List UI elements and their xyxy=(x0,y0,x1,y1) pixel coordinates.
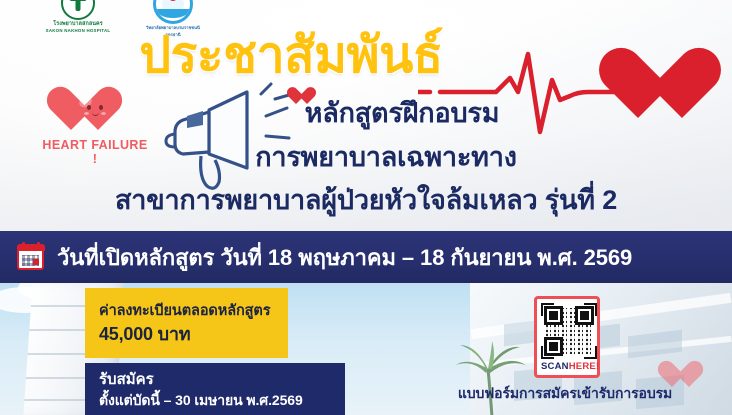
royal-crest-icon xyxy=(153,0,193,24)
here-word: HERE! xyxy=(569,361,600,372)
application-period: ตั้งแต่บัดนี้ – 30 เมษายน พ.ศ.2569 xyxy=(99,390,345,410)
page-title: ประชาสัมพันธ์ xyxy=(0,28,732,82)
qr-caption: แบบฟอร์มการสมัครเข้ารับการอบรม xyxy=(430,383,700,405)
course-date-bar: วันที่เปิดหลักสูตร วันที่ 18 พฤษภาคม – 1… xyxy=(0,231,732,283)
application-period-box: รับสมัคร ตั้งแต่บัดนี้ – 30 เมษายน พ.ศ.2… xyxy=(85,363,345,415)
scan-here-label: SCANHERE! xyxy=(541,361,593,372)
subtitle-line-3: สาขาการพยาบาลผู้ป่วยหัวใจล้มเหลว รุ่นที่… xyxy=(0,184,732,216)
logo-moph-thai-name: โรงพยาบาลสกลนคร xyxy=(32,21,124,28)
poster-canvas: โรงพยาบาลสกลนคร SAKON NAKHON HOSPITAL วิ… xyxy=(0,0,732,415)
scan-word: SCAN xyxy=(541,361,569,372)
subtitle-line-2: การพยาบาลเฉพาะทาง xyxy=(0,141,732,173)
application-label: รับสมัคร xyxy=(99,370,345,390)
qr-code-block[interactable]: SCANHERE! xyxy=(534,296,600,378)
heart-icon xyxy=(672,362,702,392)
qr-code-icon[interactable] xyxy=(541,303,597,359)
subtitle-line-1: หลักสูตรฝึกอบรม xyxy=(0,97,732,129)
course-date-text: วันที่เปิดหลักสูตร วันที่ 18 พฤษภาคม – 1… xyxy=(57,240,632,275)
fee-box: ค่าลงทะเบียนตลอดหลักสูตร 45,000 บาท xyxy=(85,288,288,358)
fee-label: ค่าลงทะเบียนตลอดหลักสูตร xyxy=(99,300,288,322)
calendar-icon xyxy=(17,244,44,270)
caduceus-icon xyxy=(61,0,95,20)
fee-amount: 45,000 บาท xyxy=(99,322,288,346)
